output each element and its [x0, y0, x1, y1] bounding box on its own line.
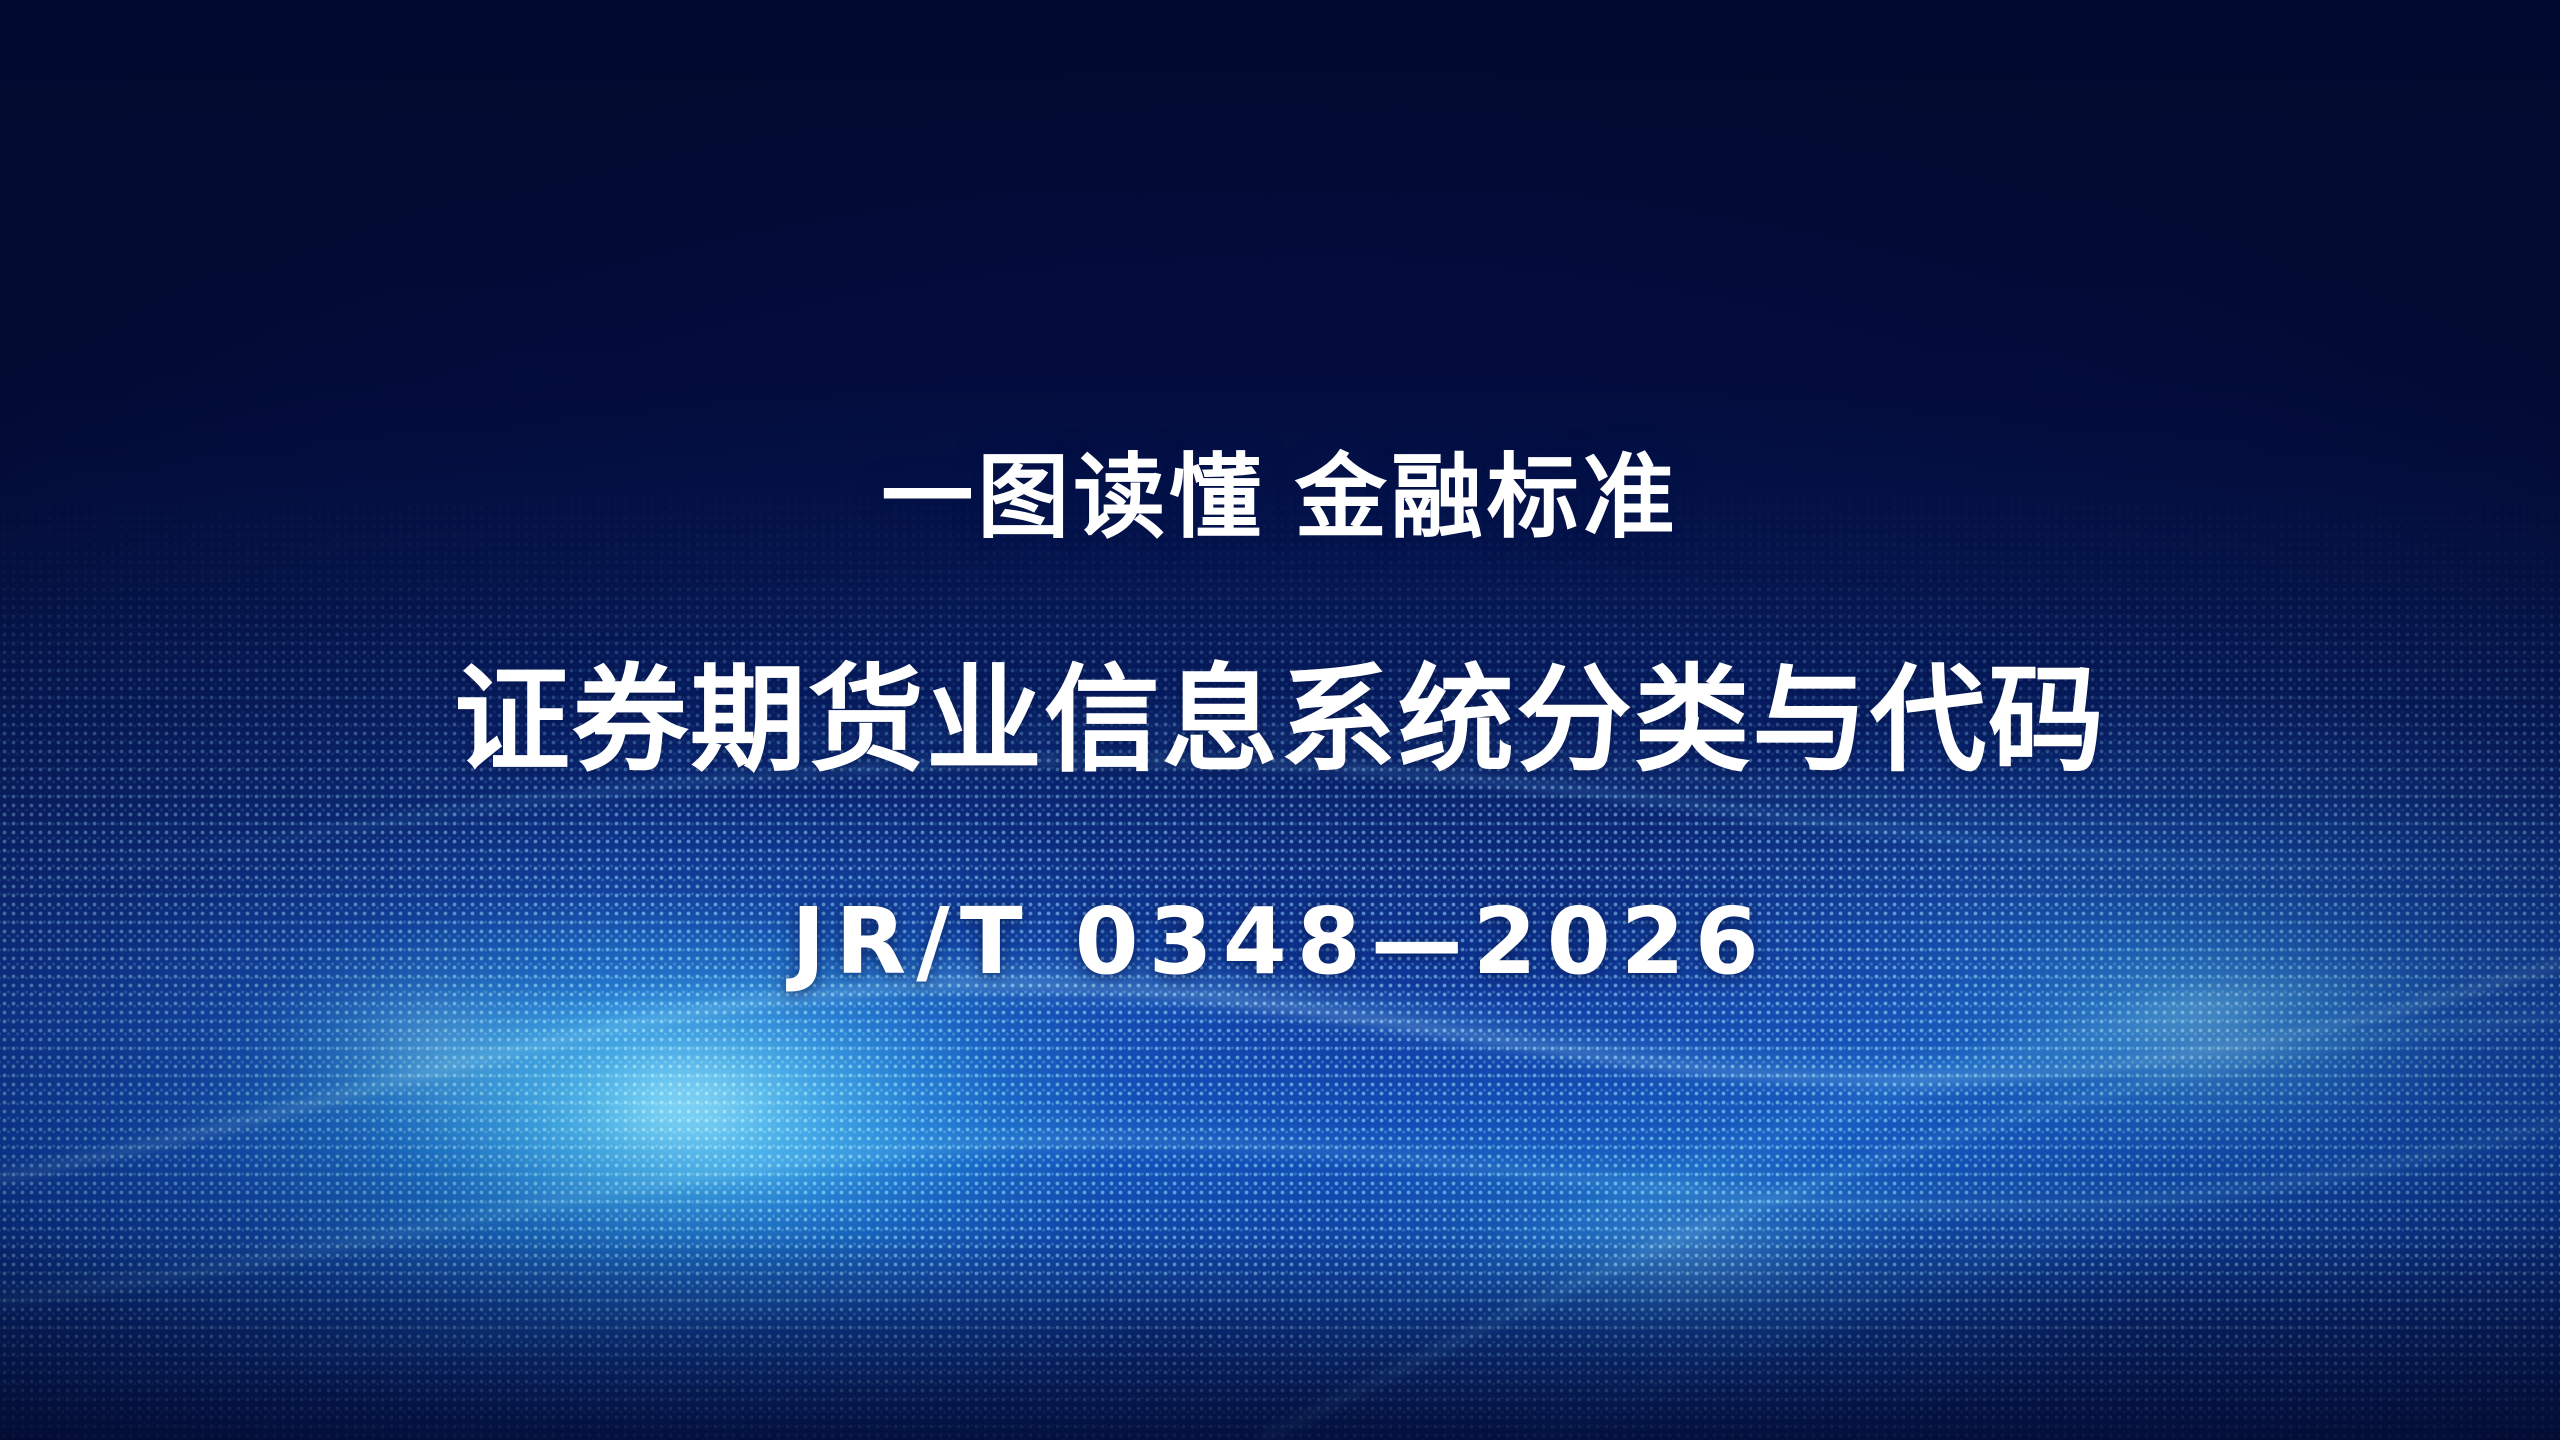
standard-name-text: 证券期货业信息系统分类与代码: [454, 656, 2106, 786]
title-block: 一图读懂 金融标准 证券期货业信息系统分类与代码 JR/T 0348—2026: [0, 0, 2560, 1440]
standard-code-text: JR/T 0348—2026: [791, 890, 1769, 993]
poster-canvas: 一图读懂 金融标准 证券期货业信息系统分类与代码 JR/T 0348—2026: [0, 0, 2560, 1440]
headline-text: 一图读懂 金融标准: [881, 447, 1679, 550]
